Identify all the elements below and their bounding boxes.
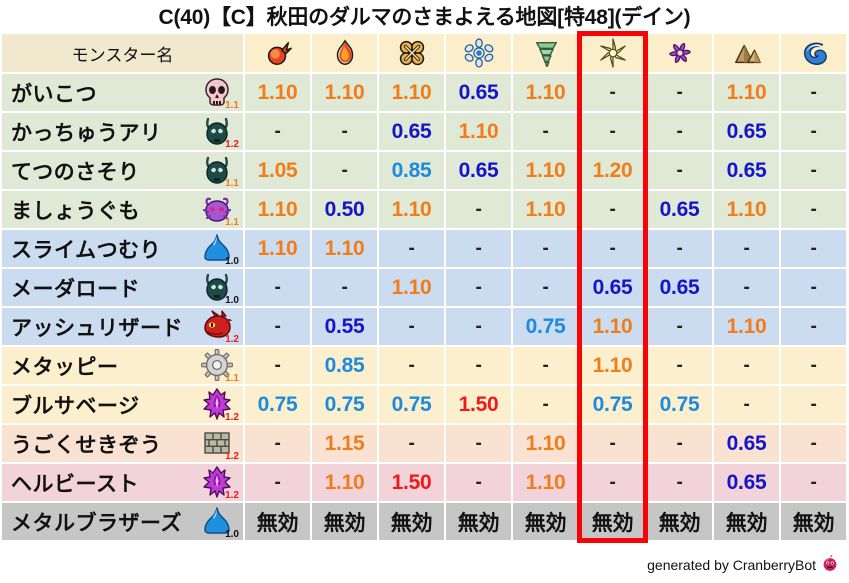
- resistance-value-cell: -: [446, 308, 511, 345]
- resistance-value-cell: -: [714, 386, 779, 423]
- resistance-value-cell: 1.10: [513, 425, 578, 462]
- resistance-value-cell: 1.10: [513, 191, 578, 228]
- resistance-value-cell: 1.10: [714, 191, 779, 228]
- resistance-value-cell: 0.65: [379, 113, 444, 150]
- monster-name-label: ヘルビースト: [11, 468, 139, 498]
- statue-icon: 1.2: [199, 427, 239, 461]
- footer-credit: generated by CranberryBot: [647, 554, 839, 575]
- table-row: かっちゅうアリ1.2--0.651.10---0.65-: [2, 113, 846, 150]
- resistance-value-cell: -: [781, 347, 846, 384]
- resistance-value-cell: 無効: [446, 503, 511, 540]
- header-element-ジバリア[interactable]: [714, 34, 779, 72]
- resistance-value-cell: -: [580, 425, 645, 462]
- table-row: ブルサベージ1.20.750.750.751.50-0.750.75--: [2, 386, 846, 423]
- monster-version-badge: 1.0: [225, 530, 239, 540]
- resistance-value-cell: 無効: [781, 503, 846, 540]
- resistance-value-cell: -: [781, 191, 846, 228]
- header-element-水[interactable]: [781, 34, 846, 72]
- monster-name-cell[interactable]: がいこつ1.1: [2, 74, 243, 111]
- monster-version-badge: 1.0: [225, 257, 239, 267]
- water-wave-icon: [781, 38, 846, 68]
- resistance-value-cell: -: [446, 230, 511, 267]
- io-explosion-icon: [379, 38, 444, 68]
- resistance-value-cell: 1.10: [312, 74, 377, 111]
- monster-name-label: メーダロード: [11, 273, 140, 303]
- resistance-value-cell: 0.75: [245, 386, 310, 423]
- resistance-value-cell: -: [647, 425, 712, 462]
- resistance-value-cell: 0.55: [312, 308, 377, 345]
- monster-name-label: アッシュリザード: [11, 312, 183, 342]
- resistance-value-cell: 1.10: [446, 113, 511, 150]
- monster-name-label: うごくせきぞう: [11, 429, 162, 459]
- resistance-value-cell: 1.10: [245, 230, 310, 267]
- monster-name-cell[interactable]: スライムつむり1.0: [2, 230, 243, 267]
- resistance-value-cell: -: [781, 464, 846, 501]
- table-row: ヘルビースト1.2-1.101.50-1.10--0.65-: [2, 464, 846, 501]
- monster-name-cell[interactable]: うごくせきぞう1.2: [2, 425, 243, 462]
- bug-icon: 1.2: [199, 115, 239, 149]
- resistance-value-cell: 0.65: [714, 152, 779, 189]
- resistance-value-cell: -: [781, 269, 846, 306]
- monster-version-badge: 1.2: [225, 491, 239, 501]
- resistance-value-cell: -: [647, 152, 712, 189]
- resistance-value-cell: 1.15: [312, 425, 377, 462]
- resistance-value-cell: -: [245, 113, 310, 150]
- monster-version-badge: 1.2: [225, 413, 239, 423]
- resistance-value-cell: -: [580, 464, 645, 501]
- header-element-イオ[interactable]: [379, 34, 444, 72]
- monster-version-badge: 1.1: [225, 374, 239, 384]
- resistance-value-cell: 1.10: [379, 74, 444, 111]
- resistance-value-cell: 1.10: [513, 464, 578, 501]
- table-row: うごくせきぞう1.2-1.15--1.10--0.65-: [2, 425, 846, 462]
- cranberry-icon: [821, 554, 839, 575]
- resistance-value-cell: -: [714, 269, 779, 306]
- resistance-value-cell: 0.65: [714, 425, 779, 462]
- resistance-value-cell: 1.05: [245, 152, 310, 189]
- bug-icon: 1.1: [199, 154, 239, 188]
- resistance-value-cell: 1.10: [245, 191, 310, 228]
- resistance-value-cell: 1.10: [580, 308, 645, 345]
- resistance-value-cell: 1.50: [379, 464, 444, 501]
- monster-name-cell[interactable]: かっちゅうアリ1.2: [2, 113, 243, 150]
- monster-name-cell[interactable]: ヘルビースト1.2: [2, 464, 243, 501]
- monster-version-badge: 1.1: [225, 101, 239, 111]
- monster-name-label: ブルサベージ: [11, 390, 140, 420]
- monster-name-cell[interactable]: メーダロード1.0: [2, 269, 243, 306]
- table-row: てつのさそり1.11.05-0.850.651.101.20-0.65-: [2, 152, 846, 189]
- dein-star-icon: [580, 38, 645, 68]
- resistance-value-cell: 0.65: [647, 269, 712, 306]
- monster-name-cell[interactable]: ましょうぐも1.1: [2, 191, 243, 228]
- resistance-value-cell: -: [379, 425, 444, 462]
- header-monster-name: モンスター名: [2, 34, 243, 72]
- resistance-value-cell: -: [647, 347, 712, 384]
- resistance-value-cell: -: [714, 230, 779, 267]
- resistance-value-cell: 0.65: [580, 269, 645, 306]
- monster-version-badge: 1.2: [225, 140, 239, 150]
- resistance-value-cell: -: [781, 425, 846, 462]
- resistance-value-cell: -: [446, 425, 511, 462]
- jibaria-mountain-icon: [714, 38, 779, 68]
- resistance-value-cell: 1.10: [379, 269, 444, 306]
- resistance-value-cell: -: [781, 74, 846, 111]
- resistance-value-cell: 1.10: [312, 230, 377, 267]
- resistance-value-cell: 0.75: [580, 386, 645, 423]
- table-row: アッシュリザード1.2-0.55--0.751.10-1.10-: [2, 308, 846, 345]
- skull-icon: 1.1: [199, 76, 239, 110]
- resistance-value-cell: -: [245, 347, 310, 384]
- monster-version-badge: 1.2: [225, 335, 239, 345]
- resistance-value-cell: -: [513, 269, 578, 306]
- resistance-value-cell: 0.65: [714, 113, 779, 150]
- resistance-value-cell: -: [781, 308, 846, 345]
- resistance-value-cell: 0.85: [312, 347, 377, 384]
- resistance-value-cell: 1.10: [379, 191, 444, 228]
- resistance-value-cell: -: [312, 113, 377, 150]
- slime-icon: 1.0: [199, 505, 239, 539]
- resistance-value-cell: -: [446, 464, 511, 501]
- resistance-value-cell: 0.65: [647, 191, 712, 228]
- resistance-value-cell: -: [513, 230, 578, 267]
- resistance-value-cell: 0.65: [714, 464, 779, 501]
- page-title: C(40)【C】秋田のダルマのさまよえる地図[特48](デイン): [0, 0, 849, 32]
- resistance-value-cell: -: [446, 269, 511, 306]
- resistance-value-cell: -: [781, 386, 846, 423]
- resistance-value-cell: -: [781, 230, 846, 267]
- monster-version-badge: 1.0: [225, 296, 239, 306]
- resistance-value-cell: -: [647, 464, 712, 501]
- resistance-value-cell: -: [580, 230, 645, 267]
- resistance-value-cell: -: [580, 113, 645, 150]
- monster-name-label: がいこつ: [11, 78, 97, 108]
- monster-name-label: ましょうぐも: [11, 195, 140, 225]
- table-row: がいこつ1.11.101.101.100.651.10--1.10-: [2, 74, 846, 111]
- resistance-value-cell: -: [647, 308, 712, 345]
- resistance-value-cell: 0.85: [379, 152, 444, 189]
- resistance-value-cell: 無効: [647, 503, 712, 540]
- table-row: メタッピー1.1-0.85---1.10---: [2, 347, 846, 384]
- bug-icon: 1.0: [199, 271, 239, 305]
- resistance-value-cell: -: [446, 347, 511, 384]
- header-element-ヒャド[interactable]: [446, 34, 511, 72]
- table-row: スライムつむり1.01.101.10-------: [2, 230, 846, 267]
- resistance-value-cell: 0.75: [312, 386, 377, 423]
- header-element-ドルマ[interactable]: [647, 34, 712, 72]
- bagi-tornado-icon: [513, 38, 578, 68]
- gear-icon: 1.1: [199, 349, 239, 383]
- resistance-value-cell: -: [245, 464, 310, 501]
- gira-flame-icon: [312, 38, 377, 68]
- resistance-value-cell: -: [245, 308, 310, 345]
- slime-icon: 1.0: [199, 232, 239, 266]
- resistance-value-cell: -: [781, 152, 846, 189]
- monster-name-label: かっちゅうアリ: [11, 117, 162, 147]
- resistance-value-cell: 無効: [245, 503, 310, 540]
- resistance-value-cell: 1.10: [714, 308, 779, 345]
- header-element-メラ[interactable]: [245, 34, 310, 72]
- resistance-value-cell: 無効: [580, 503, 645, 540]
- resistance-value-cell: 1.20: [580, 152, 645, 189]
- resistance-value-cell: -: [647, 113, 712, 150]
- dragon-icon: 1.2: [199, 310, 239, 344]
- mera-fireball-icon: [245, 38, 310, 68]
- monster-version-badge: 1.1: [225, 179, 239, 189]
- resistance-value-cell: -: [379, 347, 444, 384]
- table-header-row: モンスター名: [2, 34, 846, 72]
- resistance-value-cell: -: [312, 152, 377, 189]
- resistance-value-cell: 1.10: [580, 347, 645, 384]
- resistance-value-cell: -: [379, 308, 444, 345]
- monster-name-cell[interactable]: アッシュリザード1.2: [2, 308, 243, 345]
- resistance-value-cell: 1.10: [513, 152, 578, 189]
- resistance-value-cell: 0.50: [312, 191, 377, 228]
- header-element-バギ[interactable]: [513, 34, 578, 72]
- resistance-value-cell: 0.65: [446, 152, 511, 189]
- monster-name-label: スライムつむり: [11, 234, 161, 264]
- resistance-value-cell: 0.75: [647, 386, 712, 423]
- resistance-value-cell: -: [379, 230, 444, 267]
- resistance-value-cell: 無効: [379, 503, 444, 540]
- resistance-table: モンスター名がいこつ1.11.101.101.100.651.10--1.10-…: [0, 32, 848, 542]
- resistance-value-cell: 1.10: [714, 74, 779, 111]
- monster-name-cell[interactable]: てつのさそり1.1: [2, 152, 243, 189]
- monster-name-cell[interactable]: メタッピー1.1: [2, 347, 243, 384]
- resistance-value-cell: -: [781, 113, 846, 150]
- resistance-value-cell: 無効: [714, 503, 779, 540]
- resistance-value-cell: 1.10: [245, 74, 310, 111]
- resistance-value-cell: -: [714, 347, 779, 384]
- resistance-value-cell: 無効: [513, 503, 578, 540]
- doruma-spiral-icon: [647, 38, 712, 68]
- resistance-value-cell: -: [513, 113, 578, 150]
- monster-name-label: メタッピー: [11, 351, 119, 381]
- footer-text: generated by CranberryBot: [647, 557, 816, 573]
- monster-version-badge: 1.1: [225, 218, 239, 228]
- resistance-value-cell: -: [513, 386, 578, 423]
- demon-icon: 1.2: [199, 388, 239, 422]
- resistance-value-cell: -: [513, 347, 578, 384]
- table-row: メーダロード1.0--1.10--0.650.65--: [2, 269, 846, 306]
- monster-version-badge: 1.2: [225, 452, 239, 462]
- monster-name-cell[interactable]: メタルブラザーズ1.0: [2, 503, 243, 540]
- table-row: メタルブラザーズ1.0無効無効無効無効無効無効無効無効無効: [2, 503, 846, 540]
- monster-name-label: メタルブラザーズ: [11, 507, 182, 537]
- resistance-value-cell: 1.50: [446, 386, 511, 423]
- resistance-value-cell: 1.10: [312, 464, 377, 501]
- header-element-デイン[interactable]: [580, 34, 645, 72]
- resistance-value-cell: -: [312, 269, 377, 306]
- resistance-value-cell: 0.75: [379, 386, 444, 423]
- resistance-value-cell: 1.10: [513, 74, 578, 111]
- resistance-value-cell: 0.75: [513, 308, 578, 345]
- resistance-value-cell: -: [580, 191, 645, 228]
- resistance-value-cell: -: [580, 74, 645, 111]
- resistance-value-cell: -: [446, 191, 511, 228]
- resistance-value-cell: -: [647, 230, 712, 267]
- monster-name-cell[interactable]: ブルサベージ1.2: [2, 386, 243, 423]
- spider-icon: 1.1: [199, 193, 239, 227]
- resistance-value-cell: 0.65: [446, 74, 511, 111]
- resistance-value-cell: -: [245, 425, 310, 462]
- header-element-ギラ[interactable]: [312, 34, 377, 72]
- demon-icon: 1.2: [199, 466, 239, 500]
- table-row: ましょうぐも1.11.100.501.10-1.10-0.651.10-: [2, 191, 846, 228]
- resistance-value-cell: 無効: [312, 503, 377, 540]
- resistance-value-cell: -: [245, 269, 310, 306]
- hyado-snowflake-icon: [446, 38, 511, 68]
- resistance-value-cell: -: [647, 74, 712, 111]
- monster-name-label: てつのさそり: [11, 156, 140, 186]
